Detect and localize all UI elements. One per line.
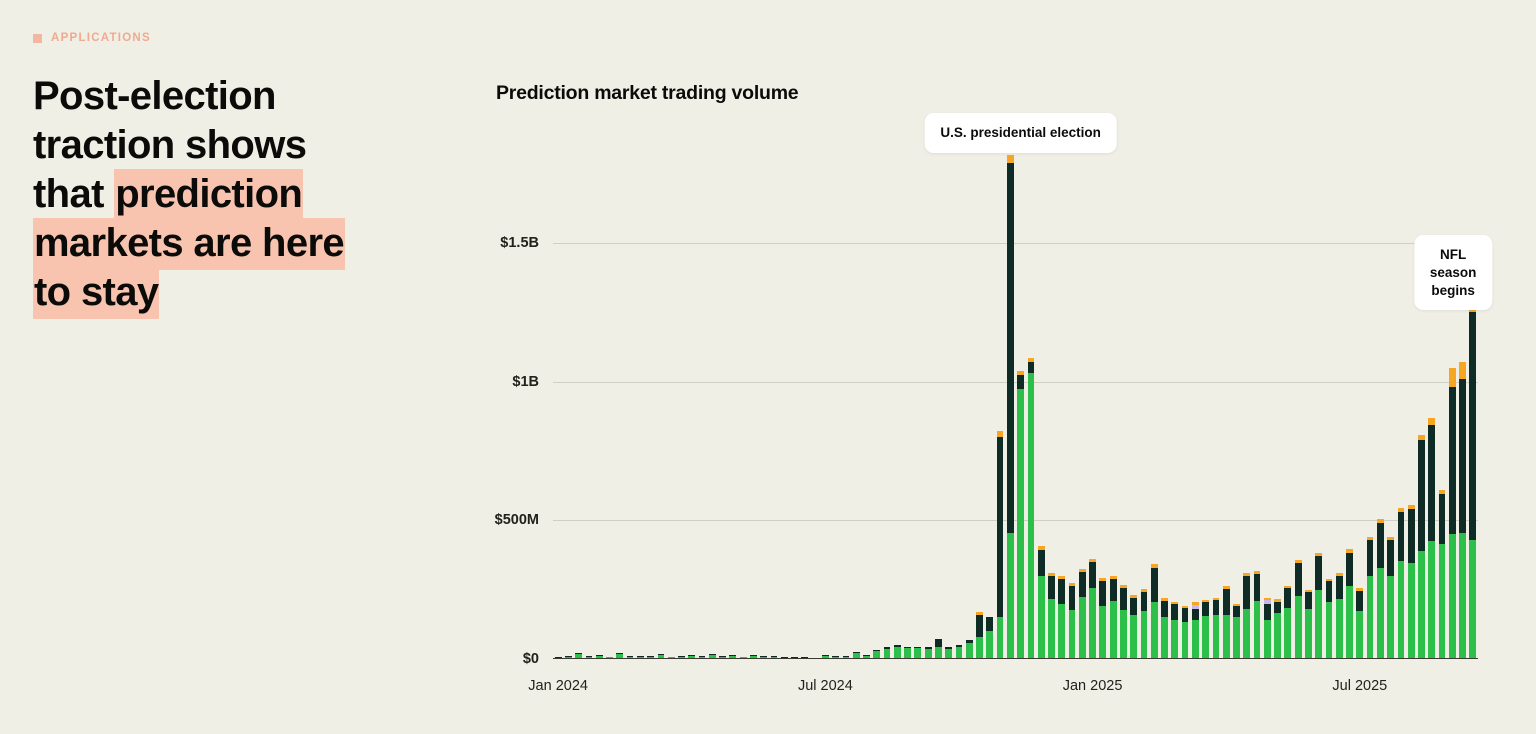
bar-segment xyxy=(1048,576,1055,598)
bar-segment xyxy=(1367,540,1374,576)
bar-segment xyxy=(1295,596,1302,659)
bar-segment xyxy=(1469,312,1476,539)
bar-segment xyxy=(1017,375,1024,388)
bar-segment xyxy=(1223,615,1230,659)
bar[interactable] xyxy=(1141,589,1148,659)
bar-segment xyxy=(1141,592,1148,611)
bar[interactable] xyxy=(986,617,993,659)
bar-segment xyxy=(1418,551,1425,659)
bar[interactable] xyxy=(1408,505,1415,659)
bar[interactable] xyxy=(1439,490,1446,659)
bar-segment xyxy=(1305,592,1312,609)
bar[interactable] xyxy=(1192,602,1199,659)
bar[interactable] xyxy=(1459,362,1466,659)
bar-segment xyxy=(1007,163,1014,533)
bar-segment xyxy=(1398,561,1405,659)
bar-segment xyxy=(1007,155,1014,163)
bar-segment xyxy=(1264,604,1271,621)
bar-segment xyxy=(1213,600,1220,614)
category-label: APPLICATIONS xyxy=(51,33,151,45)
bar-segment xyxy=(1028,362,1035,373)
bar[interactable] xyxy=(1377,519,1384,659)
bar-segment xyxy=(1243,576,1250,609)
bar-segment xyxy=(1367,576,1374,659)
bar-segment xyxy=(1326,602,1333,659)
bar[interactable] xyxy=(1336,573,1343,659)
bar[interactable] xyxy=(935,639,942,659)
bar-segment xyxy=(1315,590,1322,659)
bar-segment xyxy=(1326,581,1333,602)
bar[interactable] xyxy=(1110,576,1117,659)
bar-segment xyxy=(1017,389,1024,659)
bar-segment xyxy=(1336,576,1343,600)
bar-segment xyxy=(1243,609,1250,659)
x-axis-tick-label: Jul 2024 xyxy=(798,678,853,694)
bar-segment xyxy=(1151,602,1158,659)
bar[interactable] xyxy=(1202,600,1209,659)
bar-segment xyxy=(1254,574,1261,600)
article-intro-panel: APPLICATIONS Post-election traction show… xyxy=(0,0,470,734)
bar-segment xyxy=(1099,606,1106,659)
bar[interactable] xyxy=(1449,368,1456,659)
bar[interactable] xyxy=(1418,435,1425,659)
chart-title: Prediction market trading volume xyxy=(496,82,798,105)
bar-segment xyxy=(1336,599,1343,659)
bar[interactable] xyxy=(1038,546,1045,659)
bar-segment xyxy=(1449,534,1456,659)
bar-segment xyxy=(1151,568,1158,603)
bar[interactable] xyxy=(1326,579,1333,659)
bar-segment xyxy=(1028,373,1035,659)
bar-segment xyxy=(1377,523,1384,567)
bar[interactable] xyxy=(1387,536,1394,659)
bar-segment xyxy=(1192,609,1199,621)
bar-segment xyxy=(1439,494,1446,544)
headline-line-5-highlight: to stay xyxy=(33,267,159,319)
bar-segment xyxy=(1161,617,1168,659)
headline-line-3-plain: that xyxy=(33,172,114,216)
bar-segment xyxy=(1346,586,1353,659)
bar-segment xyxy=(1449,387,1456,534)
bar-segment xyxy=(1038,576,1045,659)
bar-segment xyxy=(1141,611,1148,659)
bar[interactable] xyxy=(1233,604,1240,659)
bar-segment xyxy=(1069,610,1076,659)
bar-segment xyxy=(1069,586,1076,610)
bar-segment xyxy=(1295,563,1302,596)
bar[interactable] xyxy=(1048,573,1055,659)
bar-segment xyxy=(935,639,942,647)
bar-segment xyxy=(1469,540,1476,659)
bar-segment xyxy=(1130,598,1137,615)
bar-segment xyxy=(1192,620,1199,659)
bar-segment xyxy=(1182,608,1189,621)
x-axis-tick-label: Jul 2025 xyxy=(1332,678,1387,694)
bar-segment xyxy=(997,617,1004,659)
bar-segment xyxy=(1274,613,1281,659)
bar[interactable] xyxy=(1120,585,1127,659)
bar-segment xyxy=(1202,602,1209,616)
category-eyebrow: APPLICATIONS xyxy=(33,33,151,45)
headline-line-1: Post-election xyxy=(33,74,276,118)
bar[interactable] xyxy=(1315,553,1322,659)
bar[interactable] xyxy=(1367,536,1374,659)
bar-segment xyxy=(1110,601,1117,659)
bar-segment xyxy=(1284,608,1291,659)
bar-segment xyxy=(1099,581,1106,607)
bar-segment xyxy=(1161,601,1168,618)
bar[interactable] xyxy=(1274,599,1281,659)
y-axis-tick-label: $1B xyxy=(512,374,539,390)
bar[interactable] xyxy=(1428,418,1435,659)
bar-segment xyxy=(1110,579,1117,601)
bar-segment xyxy=(1449,368,1456,387)
bar-segment xyxy=(1233,617,1240,659)
bar-segment xyxy=(1120,610,1127,659)
bar-segment xyxy=(1284,588,1291,607)
bar[interactable] xyxy=(1182,606,1189,659)
bar-segment xyxy=(976,637,983,659)
bar-segment xyxy=(1274,602,1281,614)
bar-series-group xyxy=(553,160,1478,659)
bar[interactable] xyxy=(1223,586,1230,659)
y-axis-tick-label: $1.5B xyxy=(500,235,539,251)
bar-segment xyxy=(1428,541,1435,659)
bar[interactable] xyxy=(1254,571,1261,659)
bar-segment xyxy=(1202,616,1209,659)
bar-segment xyxy=(1459,533,1466,659)
bar[interactable] xyxy=(1007,155,1014,659)
bar[interactable] xyxy=(1356,588,1363,659)
bar-segment xyxy=(1356,611,1363,660)
bar-segment xyxy=(976,615,983,637)
bar[interactable] xyxy=(1295,560,1302,659)
bar[interactable] xyxy=(1469,299,1476,659)
bar-segment xyxy=(1305,609,1312,659)
x-axis-tick-label: Jan 2024 xyxy=(528,678,588,694)
bar-segment xyxy=(1398,512,1405,561)
bar-segment xyxy=(997,437,1004,617)
bar[interactable] xyxy=(1213,598,1220,659)
bar-segment xyxy=(1058,604,1065,659)
bar-segment xyxy=(1408,563,1415,659)
y-axis-tick-label: $0 xyxy=(523,651,539,667)
bar[interactable] xyxy=(997,431,1004,659)
bar-segment xyxy=(1038,550,1045,576)
x-axis-tick-label: Jan 2025 xyxy=(1063,678,1123,694)
bar-segment xyxy=(1171,620,1178,659)
bar[interactable] xyxy=(1130,595,1137,659)
bar[interactable] xyxy=(1058,576,1065,659)
bar[interactable] xyxy=(1243,573,1250,659)
category-marker-icon xyxy=(33,34,42,43)
bar[interactable] xyxy=(1161,598,1168,659)
bar-segment xyxy=(1264,620,1271,659)
bar[interactable] xyxy=(1099,578,1106,659)
bar[interactable] xyxy=(1017,371,1024,659)
bar-segment xyxy=(1254,601,1261,659)
bar[interactable] xyxy=(1346,549,1353,659)
chart-plot-area: $0$500M$1B$1.5B Jan 2024Jul 2024Jan 2025… xyxy=(553,160,1478,659)
bar-segment xyxy=(1428,418,1435,425)
headline-line-3-highlight: prediction xyxy=(114,169,303,221)
bar-segment xyxy=(1428,425,1435,541)
bar-segment xyxy=(1171,604,1178,619)
x-axis-line xyxy=(553,658,1478,660)
bar-segment xyxy=(1089,588,1096,659)
bar[interactable] xyxy=(1089,559,1096,659)
bar-segment xyxy=(1120,588,1127,610)
bar[interactable] xyxy=(1069,583,1076,659)
bar-segment xyxy=(1130,615,1137,659)
bar-segment xyxy=(1213,615,1220,659)
bar-segment xyxy=(1356,591,1363,610)
bar[interactable] xyxy=(1079,569,1086,659)
bar-segment xyxy=(1058,579,1065,604)
bar[interactable] xyxy=(1151,564,1158,659)
bar[interactable] xyxy=(1028,358,1035,659)
bar-segment xyxy=(986,617,993,631)
bar-segment xyxy=(1346,553,1353,586)
bar[interactable] xyxy=(966,640,973,659)
bar[interactable] xyxy=(1264,597,1271,659)
bar-segment xyxy=(1182,622,1189,659)
y-axis-tick-label: $500M xyxy=(495,512,539,528)
bar-segment xyxy=(1439,544,1446,659)
headline-line-4-highlight: markets are here xyxy=(33,218,345,270)
bar-segment xyxy=(1377,568,1384,659)
annotation-callout: U.S. presidential election xyxy=(924,113,1117,153)
bar-segment xyxy=(1418,440,1425,551)
bar-segment xyxy=(1233,606,1240,618)
bar[interactable] xyxy=(1284,586,1291,659)
bar-segment xyxy=(1315,556,1322,589)
bar-segment xyxy=(1048,599,1055,659)
bar-segment xyxy=(1079,572,1086,596)
bar-segment xyxy=(1387,540,1394,576)
bar-segment xyxy=(1459,362,1466,379)
bar-segment xyxy=(1089,562,1096,588)
bar-segment xyxy=(986,631,993,659)
bar[interactable] xyxy=(1171,602,1178,659)
page-title: Post-election traction shows that predic… xyxy=(33,72,433,317)
bar-segment xyxy=(1387,576,1394,659)
bar[interactable] xyxy=(976,612,983,659)
bar-segment xyxy=(1459,379,1466,533)
chart-panel: Prediction market trading volume $0$500M… xyxy=(470,0,1536,734)
bar-segment xyxy=(1223,589,1230,615)
annotation-callout: NFL season begins xyxy=(1414,235,1493,310)
bar[interactable] xyxy=(1305,590,1312,659)
bar-segment xyxy=(1007,533,1014,659)
bar-segment xyxy=(1079,597,1086,659)
bar[interactable] xyxy=(1398,508,1405,659)
headline-line-2: traction shows xyxy=(33,123,306,167)
bar-segment xyxy=(1408,509,1415,563)
